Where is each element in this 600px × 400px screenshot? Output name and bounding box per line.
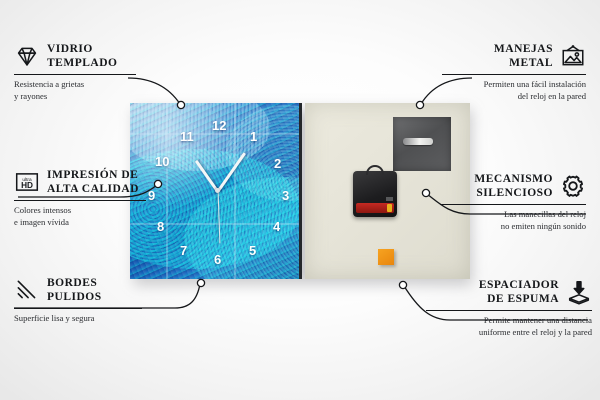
product-image: 12 1 2 3 4 5 6 7 8 9 10 11: [130, 103, 470, 281]
grid-line-h1: [130, 133, 302, 135]
battery: [356, 203, 394, 213]
clock-numeral-11: 11: [180, 130, 194, 143]
feature-desc-line2: y rayones: [14, 91, 136, 103]
feature-title-line2: TEMPLADO: [47, 56, 117, 70]
feature-desc-line2: e imagen vívida: [14, 217, 146, 229]
feature-desc-line1: Resistencia a grietas: [14, 79, 136, 91]
feature-bordes-pulidos[interactable]: BORDES PULIDOS Superficie lisa y segura: [14, 276, 142, 325]
feature-title-line1: ESPACIADOR: [479, 278, 559, 292]
feature-desc-line1: Colores intensos: [14, 205, 146, 217]
feature-desc-line1: Superficie lisa y segura: [14, 313, 142, 325]
feature-title-line2: SILENCIOSO: [474, 186, 553, 200]
feature-header: BORDES PULIDOS: [14, 276, 142, 304]
badge-hd-text: HD: [21, 181, 33, 190]
feature-divider: [442, 74, 586, 75]
feature-impresion-alta-calidad[interactable]: ultra HD IMPRESIÓN DE ALTA CALIDAD Color…: [14, 168, 146, 229]
feature-header: ESPACIADOR DE ESPUMA: [426, 278, 592, 306]
feature-title-line2: PULIDOS: [47, 290, 102, 304]
movement-chip: [386, 197, 393, 201]
grid-line-v2: [234, 103, 236, 279]
feature-desc-line1: Las manecillas del reloj: [440, 209, 586, 221]
feature-vidrio-templado[interactable]: VIDRIO TEMPLADO Resistencia a grietas y …: [14, 42, 136, 103]
infographic-canvas: 12 1 2 3 4 5 6 7 8 9 10 11: [0, 0, 600, 400]
feature-title-line1: MANEJAS: [494, 42, 553, 56]
hanger-slot: [403, 138, 433, 145]
clock-numeral-6: 6: [214, 253, 221, 266]
feature-espaciador-de-espuma[interactable]: ESPACIADOR DE ESPUMA Permite mantener un…: [426, 278, 592, 339]
foam-spacer-arrow-icon: [566, 279, 592, 305]
feature-title-line2: DE ESPUMA: [479, 292, 559, 306]
clock-numeral-7: 7: [180, 244, 187, 257]
clock-center-pin: [215, 188, 220, 193]
clock-numeral-9: 9: [148, 189, 155, 202]
feature-desc-line2: no emiten ningún sonido: [440, 221, 586, 233]
feature-divider: [14, 74, 136, 75]
feature-desc-line1: Permite mantener una distancia: [426, 315, 592, 327]
feature-header: MECANISMO SILENCIOSO: [440, 172, 586, 200]
clock-numeral-8: 8: [157, 220, 164, 233]
feature-desc-line1: Permiten una fácil instalación: [442, 79, 586, 91]
clock-face-front: 12 1 2 3 4 5 6 7 8 9 10 11: [130, 103, 302, 279]
feature-desc-line2: uniforme entre el reloj y la pared: [426, 327, 592, 339]
feature-title-line2: METAL: [494, 56, 553, 70]
clock-numeral-10: 10: [155, 155, 169, 168]
feature-divider: [14, 308, 142, 309]
gear-icon: [560, 173, 586, 199]
feature-divider: [426, 310, 592, 311]
grid-line-v1: [166, 103, 168, 279]
metal-hanger-plate: [393, 117, 451, 171]
diamond-icon: [14, 43, 40, 69]
clock-numeral-12: 12: [212, 119, 226, 132]
quartz-movement: [353, 171, 397, 217]
polished-edges-icon: [14, 277, 40, 303]
feature-divider: [440, 204, 586, 205]
feature-title-line1: IMPRESIÓN DE: [47, 168, 139, 182]
feature-title-line2: ALTA CALIDAD: [47, 182, 139, 196]
feature-desc-line2: del reloj en la pared: [442, 91, 586, 103]
picture-frame-hanger-icon: [560, 43, 586, 69]
clock-numeral-5: 5: [249, 244, 256, 257]
feature-divider: [14, 200, 146, 201]
feature-manejas-metal[interactable]: MANEJAS METAL Permiten una fácil instala…: [442, 42, 586, 103]
movement-hanging-loop: [366, 165, 384, 175]
feature-title-line1: BORDES: [47, 276, 102, 290]
clock-numeral-2: 2: [274, 157, 281, 170]
feature-header: VIDRIO TEMPLADO: [14, 42, 136, 70]
ultra-hd-badge-icon: ultra HD: [14, 169, 40, 195]
feature-header: MANEJAS METAL: [442, 42, 586, 70]
clock-numeral-4: 4: [273, 220, 280, 233]
feature-title-line1: MECANISMO: [474, 172, 553, 186]
foam-spacer: [378, 249, 394, 265]
clock-numeral-1: 1: [250, 130, 257, 143]
feature-header: ultra HD IMPRESIÓN DE ALTA CALIDAD: [14, 168, 146, 196]
feature-mecanismo-silencioso[interactable]: MECANISMO SILENCIOSO Las manecillas del …: [440, 172, 586, 233]
clock-numeral-3: 3: [282, 189, 289, 202]
feature-title-line1: VIDRIO: [47, 42, 117, 56]
